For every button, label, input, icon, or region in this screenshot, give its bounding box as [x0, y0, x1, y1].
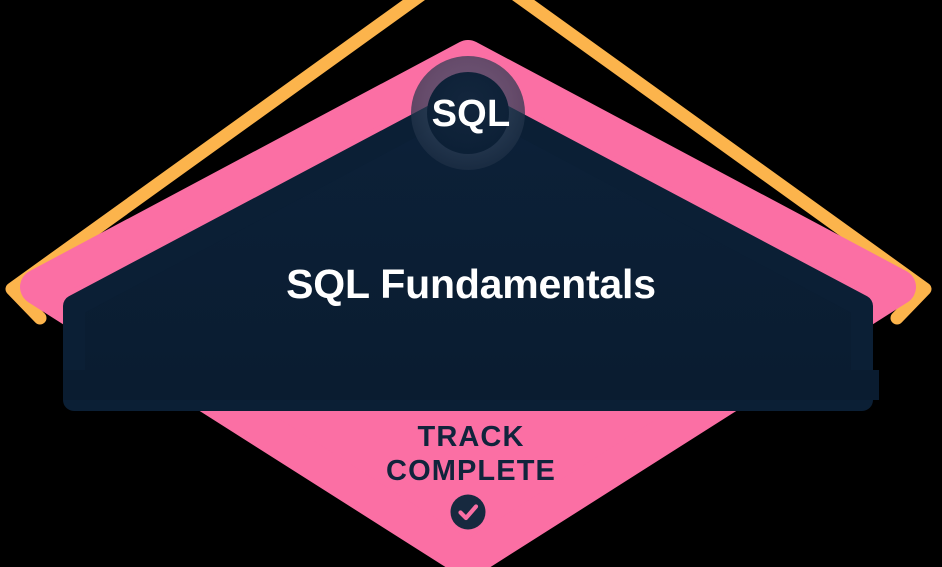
- navy-core-bottom-fill: [63, 370, 879, 400]
- sql-ring-inner: [427, 72, 509, 154]
- badge-stage: SQL SQL Fundamentals TRACK COMPLETE: [0, 0, 942, 567]
- badge-graphic: [0, 0, 942, 567]
- check-badge-circle: [451, 495, 486, 530]
